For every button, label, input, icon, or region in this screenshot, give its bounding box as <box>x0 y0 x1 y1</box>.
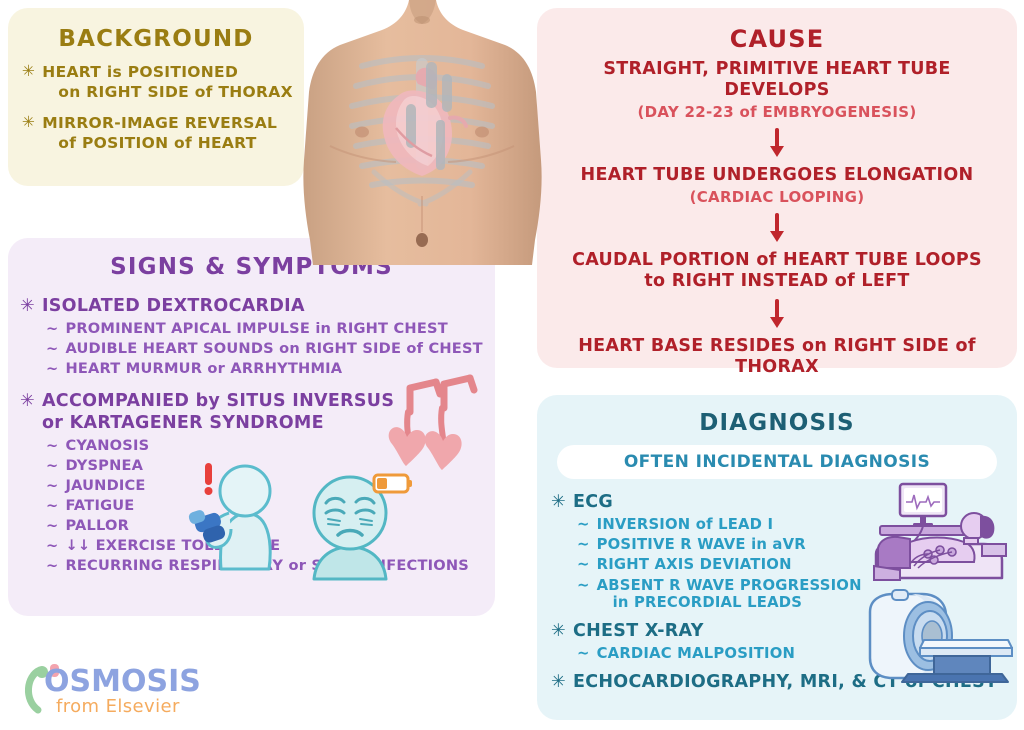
flow-step-sub: (CARDIAC LOOPING) <box>553 188 1001 206</box>
asterisk-bullet-icon: ✳ <box>20 296 35 317</box>
signs-heading-text: ISOLATED DEXTROCARDIA <box>42 296 485 317</box>
tilde-bullet-icon: ~ <box>46 360 58 378</box>
flow-step-sub: (DAY 22-23 of EMBRYOGENESIS) <box>553 103 1001 121</box>
tilde-bullet-icon: ~ <box>46 497 58 515</box>
panel-diagnosis-title: DIAGNOSIS <box>537 395 1017 436</box>
signs-sub-text: AUDIBLE HEART SOUNDS on RIGHT SIDE of CH… <box>65 340 485 358</box>
tilde-bullet-icon: ~ <box>577 577 590 595</box>
asterisk-bullet-icon: ✳ <box>22 113 35 131</box>
arrow-down-icon <box>770 213 784 243</box>
line: or KARTAGENER SYNDROME <box>42 413 324 433</box>
line: on RIGHT SIDE of THORAX <box>58 82 296 102</box>
flow-step-main: HEART TUBE UNDERGOES ELONGATION <box>553 165 1001 186</box>
line: HEART is POSITIONED <box>42 63 238 81</box>
signs-sub-text: PROMINENT APICAL IMPULSE in RIGHT CHEST <box>65 320 485 338</box>
infographic-canvas: BACKGROUND ✳ HEART is POSITIONED on RIGH… <box>0 0 1024 730</box>
diagnosis-pill-banner: OFTEN INCIDENTAL DIAGNOSIS <box>557 445 997 479</box>
line: ABSENT R WAVE PROGRESSION <box>597 577 862 594</box>
tilde-bullet-icon: ~ <box>46 340 58 358</box>
flow-step-main: HEART BASE RESIDES on RIGHT SIDE of THOR… <box>553 336 1001 378</box>
asterisk-bullet-icon: ✳ <box>20 391 35 412</box>
tilde-bullet-icon: ~ <box>46 477 58 495</box>
tired-face-low-battery-illustration <box>292 455 412 590</box>
tilde-bullet-icon: ~ <box>577 516 590 534</box>
osmosis-logo: OSMOSIS from Elsevier <box>14 662 214 724</box>
osmosis-tagline: from Elsevier <box>56 696 180 717</box>
arrow-down-icon <box>770 128 784 158</box>
cause-flowchart: STRAIGHT, PRIMITIVE HEART TUBE DEVELOPS … <box>537 53 1017 378</box>
person-with-inhaler-illustration <box>183 443 288 578</box>
panel-cause-title: CAUSE <box>537 8 1017 53</box>
tilde-bullet-icon: ~ <box>577 536 590 554</box>
asterisk-bullet-icon: ✳ <box>551 672 566 693</box>
asterisk-bullet-icon: ✳ <box>551 621 566 642</box>
flow-step-main: CAUDAL PORTION of HEART TUBE LOOPS <box>553 250 1001 271</box>
line: ACCOMPANIED by SITUS INVERSUS <box>42 391 394 411</box>
arrow-down-icon <box>770 299 784 329</box>
list-item: ✳ MIRROR-IMAGE REVERSAL of POSITION of H… <box>22 113 296 153</box>
panel-cause: CAUSE STRAIGHT, PRIMITIVE HEART TUBE DEV… <box>537 8 1017 368</box>
list-item: ~ AUDIBLE HEART SOUNDS on RIGHT SIDE of … <box>46 340 485 358</box>
line: of POSITION of HEART <box>58 133 296 153</box>
flow-step-main-cont: to RIGHT INSTEAD of LEFT <box>553 271 1001 292</box>
background-item-text: HEART is POSITIONED on RIGHT SIDE of THO… <box>42 62 296 102</box>
low-battery-icon <box>374 475 412 492</box>
patient-ecg-monitor-illustration <box>866 482 1016 597</box>
osmosis-wordmark: OSMOSIS <box>44 664 201 699</box>
panel-background: BACKGROUND ✳ HEART is POSITIONED on RIGH… <box>8 8 304 186</box>
asterisk-bullet-icon: ✳ <box>551 492 566 513</box>
panel-background-title: BACKGROUND <box>8 8 304 52</box>
tilde-bullet-icon: ~ <box>577 645 590 663</box>
tilde-bullet-icon: ~ <box>46 517 58 535</box>
background-list: ✳ HEART is POSITIONED on RIGHT SIDE of T… <box>8 52 304 154</box>
tilde-bullet-icon: ~ <box>46 320 58 338</box>
human-torso-ribcage-heart-illustration <box>300 0 545 265</box>
tilde-bullet-icon: ~ <box>46 537 58 555</box>
background-item-text: MIRROR-IMAGE REVERSAL of POSITION of HEA… <box>42 113 296 153</box>
signs-group-heading: ✳ ISOLATED DEXTROCARDIA <box>20 296 485 317</box>
flow-step-main: STRAIGHT, PRIMITIVE HEART TUBE DEVELOPS <box>553 59 1001 101</box>
asterisk-bullet-icon: ✳ <box>22 62 35 80</box>
list-item: ✳ HEART is POSITIONED on RIGHT SIDE of T… <box>22 62 296 102</box>
tilde-bullet-icon: ~ <box>46 557 58 575</box>
mri-ct-scanner-illustration <box>862 588 1017 688</box>
list-item: ~ PROMINENT APICAL IMPULSE in RIGHT CHES… <box>46 320 485 338</box>
tilde-bullet-icon: ~ <box>46 457 58 475</box>
tilde-bullet-icon: ~ <box>577 556 590 574</box>
tilde-bullet-icon: ~ <box>46 437 58 455</box>
line: MIRROR-IMAGE REVERSAL <box>42 114 277 132</box>
